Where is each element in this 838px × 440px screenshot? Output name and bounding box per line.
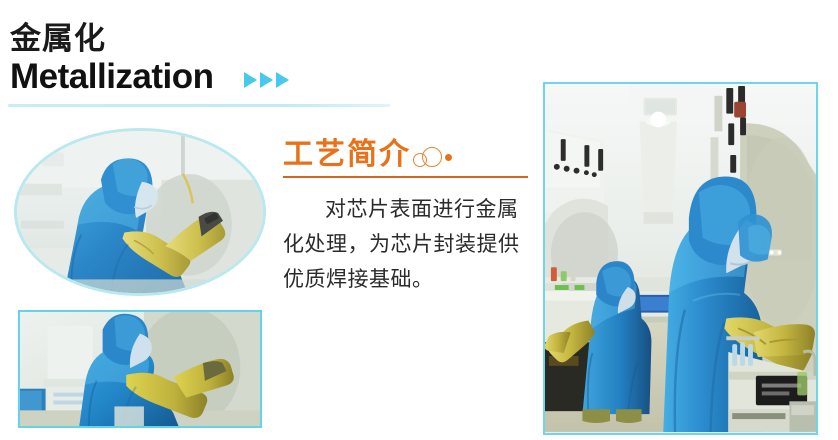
- triangle-right-icon: [276, 72, 289, 88]
- intro-divider: [283, 176, 528, 178]
- photo-rect-worker: [18, 310, 262, 428]
- photo-ellipse-worker: [14, 128, 266, 296]
- circle-outline-large-icon: [422, 147, 442, 167]
- cleanroom-worker-illustration: [17, 131, 263, 295]
- page-title-en: Metallization: [10, 56, 214, 98]
- triangle-right-icon: [260, 72, 273, 88]
- page-header: 金属化 Metallization: [10, 20, 410, 98]
- triangle-right-icon: [244, 72, 257, 88]
- heading-decoration: [413, 141, 459, 171]
- filled-dot-icon: [445, 154, 452, 161]
- cleanroom-worker-equipment-illustration: [20, 312, 260, 428]
- intro-heading-block: 工艺简介: [283, 130, 533, 172]
- photo-large-cleanroom: [543, 82, 818, 435]
- section-heading: 工艺简介: [283, 138, 411, 172]
- title-row: Metallization: [10, 58, 410, 98]
- arrow-decoration-group: [244, 72, 292, 88]
- page-title-cn: 金属化: [10, 20, 410, 58]
- intro-body-text: 对芯片表面进行金属化处理，为芯片封装提供优质焊接基础。: [283, 192, 533, 297]
- cleanroom-production-line-illustration: [545, 84, 816, 432]
- header-divider: [8, 104, 390, 107]
- intro-heading-row: 工艺简介: [283, 130, 533, 172]
